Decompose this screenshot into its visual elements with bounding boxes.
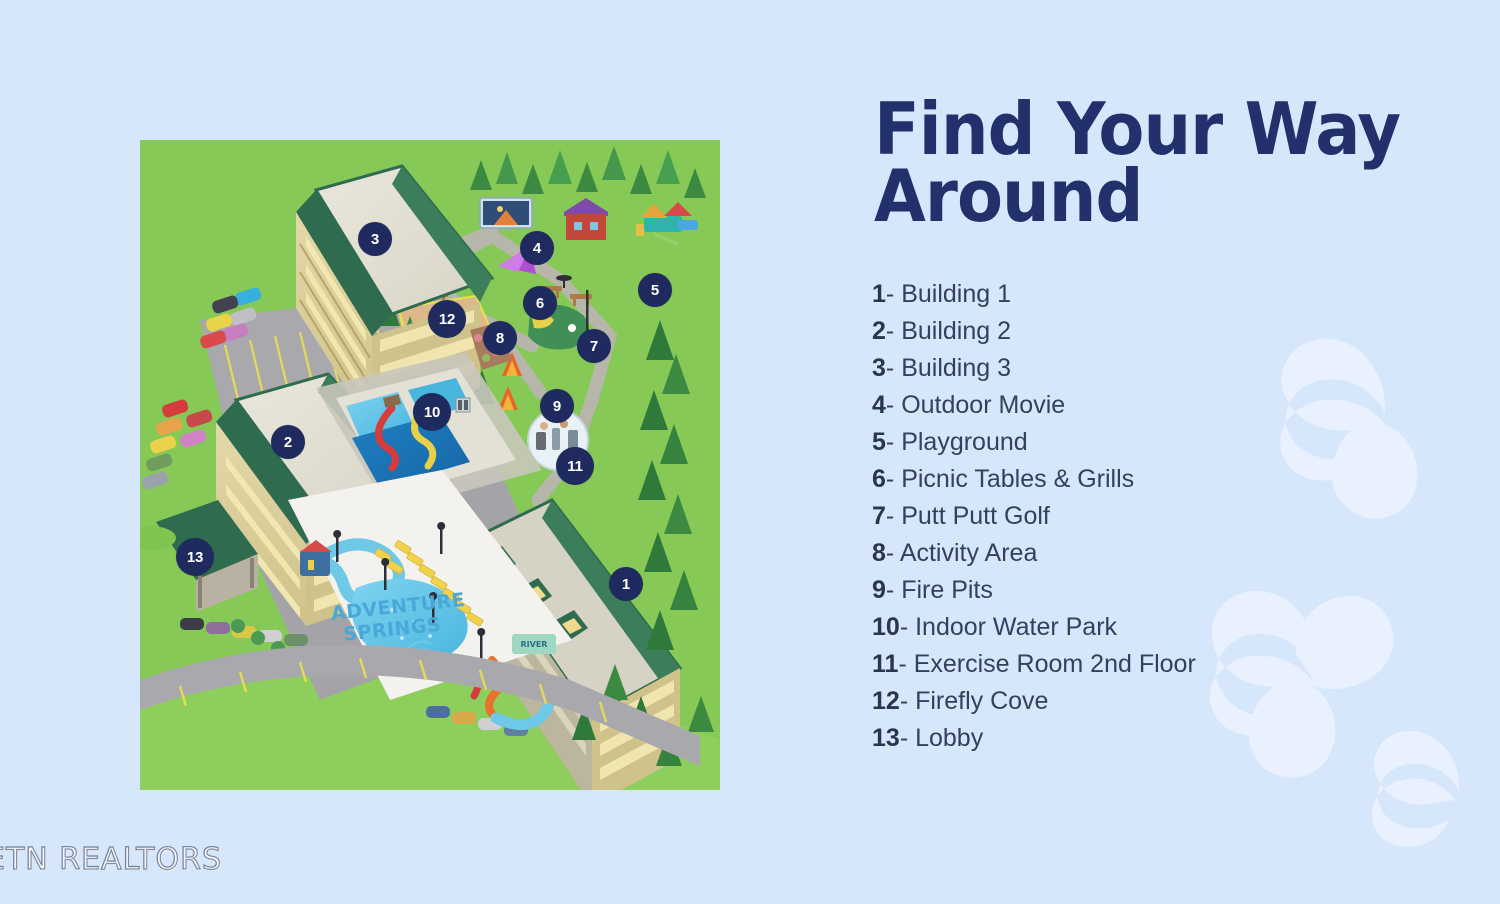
map-marker-5[interactable]: 5 (638, 273, 672, 307)
map-marker-7[interactable]: 7 (577, 329, 611, 363)
legend-number: 7 (872, 502, 886, 530)
map-illustration: RIVER ADVENTURE SPRINGS (140, 140, 720, 790)
legend-label: Building 2 (901, 317, 1011, 345)
legend-label: Lobby (915, 724, 983, 752)
legend-item[interactable]: 9- Fire Pits (872, 572, 1472, 609)
legend-separator: - (886, 317, 901, 345)
page-title: Find Your Way Around (874, 96, 1430, 230)
map-marker-10[interactable]: 10 (413, 393, 451, 431)
legend-number: 8 (872, 539, 886, 567)
legend-label: Fire Pits (901, 576, 993, 604)
legend-separator: - (886, 465, 901, 493)
legend-item[interactable]: 10- Indoor Water Park (872, 609, 1472, 646)
legend-label: Exercise Room 2nd Floor (914, 650, 1196, 678)
legend-item[interactable]: 1- Building 1 (872, 276, 1472, 313)
legend-separator: - (900, 687, 915, 715)
legend-label: Firefly Cove (915, 687, 1048, 715)
legend-number: 13 (872, 724, 900, 752)
legend-separator: - (900, 724, 915, 752)
property-map[interactable]: RIVER ADVENTURE SPRINGS (140, 140, 720, 790)
map-legend-list: 1- Building 1 2- Building 2 3- Building … (872, 276, 1472, 757)
legend-item[interactable]: 7- Putt Putt Golf (872, 498, 1472, 535)
info-panel: Find Your Way Around 1- Building 1 2- Bu… (872, 96, 1472, 757)
legend-item[interactable]: 2- Building 2 (872, 313, 1472, 350)
map-marker-12[interactable]: 12 (428, 300, 466, 338)
legend-label: Building 1 (901, 280, 1011, 308)
legend-separator: - (886, 576, 901, 604)
map-marker-8[interactable]: 8 (483, 321, 517, 355)
map-marker-9[interactable]: 9 (540, 389, 574, 423)
legend-separator: - (886, 502, 901, 530)
legend-item[interactable]: 4- Outdoor Movie (872, 387, 1472, 424)
map-marker-11[interactable]: 11 (556, 447, 594, 485)
legend-separator: - (886, 428, 901, 456)
legend-separator: - (886, 354, 901, 382)
legend-number: 10 (872, 613, 900, 641)
legend-label: Playground (901, 428, 1027, 456)
legend-separator: - (886, 391, 901, 419)
legend-number: 6 (872, 465, 886, 493)
legend-item[interactable]: 11- Exercise Room 2nd Floor (872, 646, 1472, 683)
legend-number: 4 (872, 391, 886, 419)
legend-separator: - (886, 280, 901, 308)
legend-label: Activity Area (900, 539, 1038, 567)
legend-number: 12 (872, 687, 900, 715)
legend-label: Outdoor Movie (901, 391, 1065, 419)
legend-label: Indoor Water Park (915, 613, 1117, 641)
legend-label: Putt Putt Golf (901, 502, 1050, 530)
legend-number: 11 (872, 650, 898, 678)
legend-number: 2 (872, 317, 886, 345)
legend-number: 5 (872, 428, 886, 456)
legend-item[interactable]: 3- Building 3 (872, 350, 1472, 387)
river-sign-text: RIVER (521, 640, 548, 649)
map-marker-4[interactable]: 4 (520, 231, 554, 265)
legend-label: Building 3 (901, 354, 1011, 382)
legend-item[interactable]: 5- Playground (872, 424, 1472, 461)
map-marker-6[interactable]: 6 (523, 286, 557, 320)
legend-number: 9 (872, 576, 886, 604)
legend-separator: - (898, 650, 913, 678)
map-marker-3[interactable]: 3 (358, 222, 392, 256)
watermark-text: ETN REALTORS (0, 842, 222, 877)
legend-label: Picnic Tables & Grills (901, 465, 1134, 493)
map-marker-2[interactable]: 2 (271, 425, 305, 459)
legend-item[interactable]: 8- Activity Area (872, 535, 1472, 572)
legend-item[interactable]: 12- Firefly Cove (872, 683, 1472, 720)
legend-separator: - (900, 613, 915, 641)
legend-number: 3 (872, 354, 886, 382)
map-marker-1[interactable]: 1 (609, 567, 643, 601)
legend-item[interactable]: 13- Lobby (872, 720, 1472, 757)
legend-number: 1 (872, 280, 886, 308)
legend-separator: - (886, 539, 900, 567)
map-marker-13[interactable]: 13 (176, 538, 214, 576)
legend-item[interactable]: 6- Picnic Tables & Grills (872, 461, 1472, 498)
